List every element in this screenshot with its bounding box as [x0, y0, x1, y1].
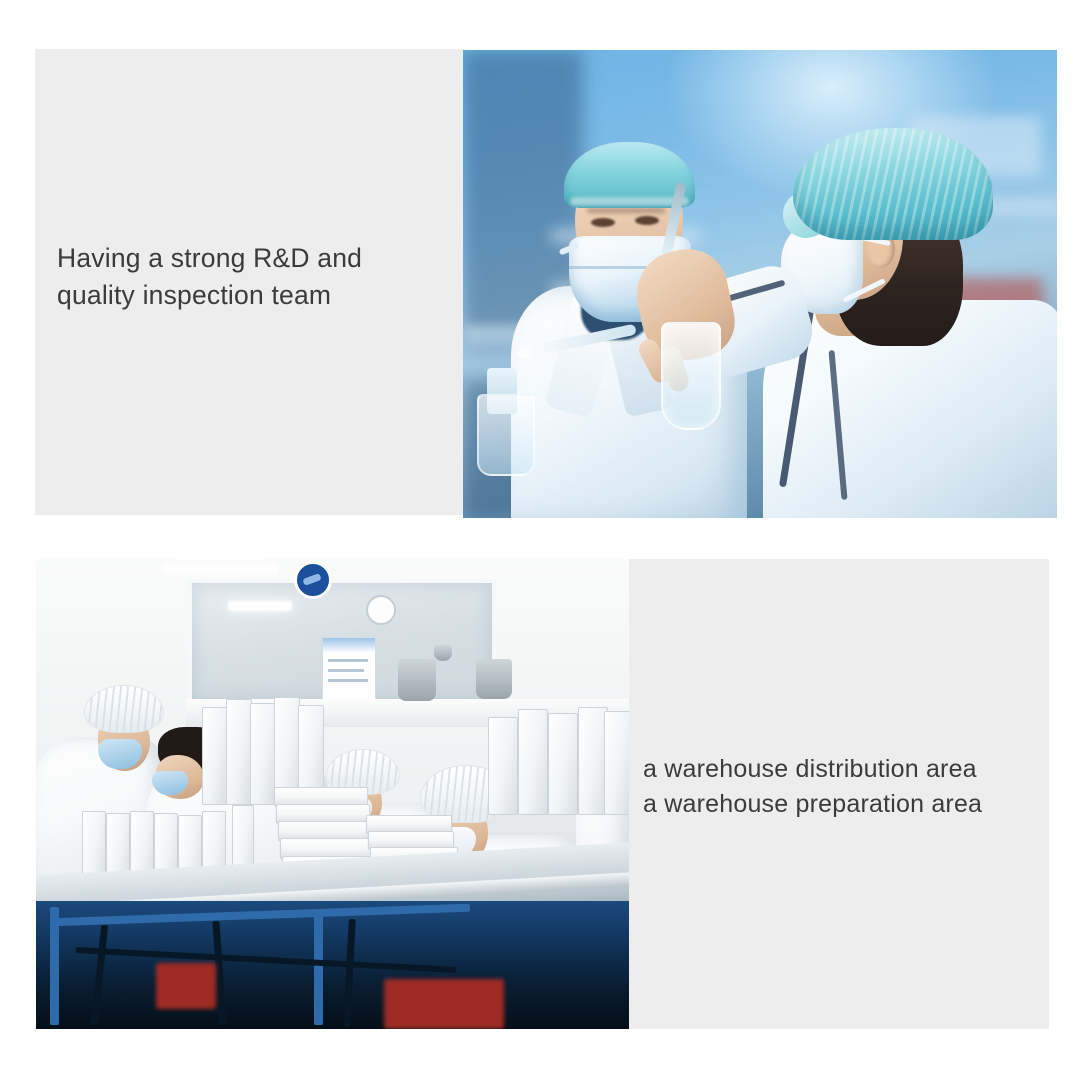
warehouse-worker-1-hairnet	[84, 685, 164, 733]
box-stack-item	[488, 717, 518, 815]
blue-wall-sign	[294, 561, 332, 599]
box-stack-item	[604, 711, 629, 815]
box-stack-item	[518, 709, 548, 815]
box-stack-item	[202, 707, 228, 805]
lab-worker-a-brow	[587, 208, 665, 213]
lab-flask	[661, 322, 721, 430]
box-stack-item	[250, 703, 276, 805]
promo-collage: Having a strong R&D and quality inspecti…	[0, 0, 1080, 1080]
lab-inspection-photo	[463, 50, 1057, 518]
red-bin	[384, 979, 504, 1029]
notice-text-line	[328, 669, 364, 672]
top-caption-text: Having a strong R&D and quality inspecti…	[57, 240, 457, 313]
wall-clock	[366, 595, 396, 625]
box-stack-item	[226, 699, 252, 805]
table-leg	[314, 911, 323, 1025]
steel-lid	[434, 645, 452, 661]
bottom-caption-text: a warehouse distribution area a warehous…	[643, 752, 1043, 821]
wall-notice-board	[322, 637, 376, 707]
lab-worker-a-eye-left	[591, 218, 615, 227]
red-bin	[156, 963, 216, 1009]
warehouse-packing-photo	[36, 559, 629, 1029]
lab-worker-a-eye-right	[635, 216, 659, 225]
ceiling-light	[162, 565, 278, 574]
notice-text-line	[328, 659, 368, 662]
box-stack-item	[548, 713, 578, 815]
lab-beaker	[477, 394, 535, 476]
window-light-fixture	[228, 601, 292, 611]
steel-pot	[398, 659, 436, 701]
steel-pot	[476, 659, 512, 699]
box-flat	[280, 838, 376, 858]
notice-text-line	[328, 679, 368, 682]
